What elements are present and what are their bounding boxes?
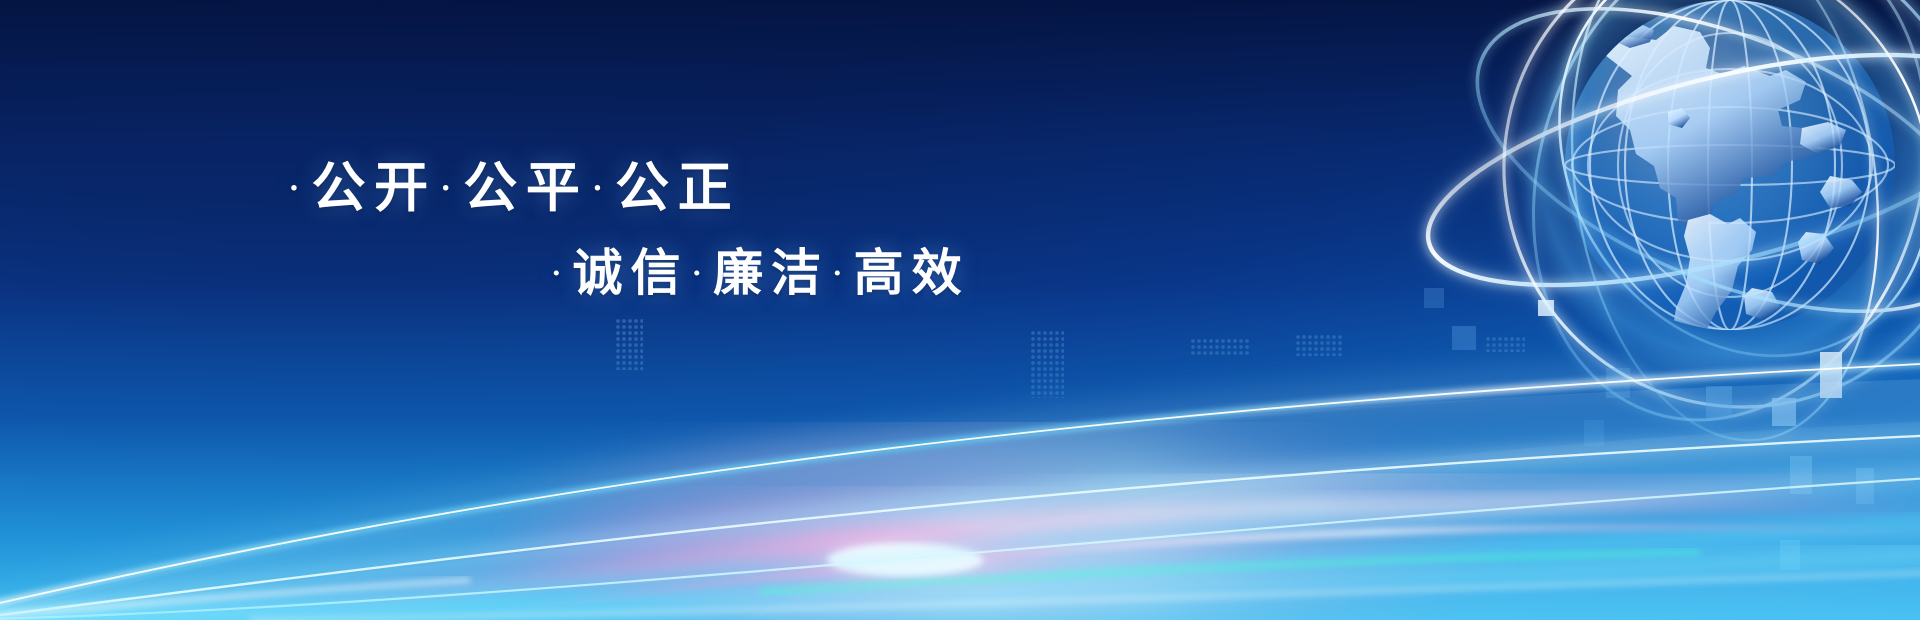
slogan-word-chengxin: 诚信 [573,245,689,301]
slogan-word-gongzheng: 公正 [615,158,740,218]
square-accent-3 [1706,386,1732,418]
slogan-word-gaoxiao: 高效 [854,245,970,301]
square-accent-6 [1780,540,1800,570]
slogan-word-lianjie: 廉洁 [713,245,829,301]
slogan-separator: · [437,170,464,207]
globe-graphic [1400,0,1920,440]
slogan-separator: · [589,170,616,207]
slogan-word-gongping: 公平 [463,158,588,218]
map-dot-cluster-a [615,318,643,370]
slogan-separator: · [689,255,714,290]
map-dot-cluster-c [1190,338,1250,356]
slogan-separator: · [285,170,312,207]
map-dot-cluster-b [1030,330,1064,398]
square-accent-10 [1452,326,1476,350]
slogan-word-gongkai: 公开 [312,158,437,218]
square-accent-2 [1772,398,1796,426]
slogan-line-1: ·公开·公平·公正 [285,143,740,222]
square-accent-7 [1606,368,1630,398]
square-accent-5 [1856,468,1874,504]
square-accent-9 [1538,300,1554,316]
square-accent-4 [1790,456,1812,494]
map-dot-cluster-d [1295,334,1343,356]
square-accent-8 [1584,420,1604,446]
slogan-separator: · [829,255,854,290]
square-accent-1 [1820,352,1842,398]
square-accent-11 [1424,288,1444,308]
promotional-banner: '); -webkit-mask-size:100% 100%; mask-im… [0,0,1920,620]
slogan-line-2: ·诚信·廉洁·高效 [548,233,970,305]
slogan-separator: · [548,255,573,290]
